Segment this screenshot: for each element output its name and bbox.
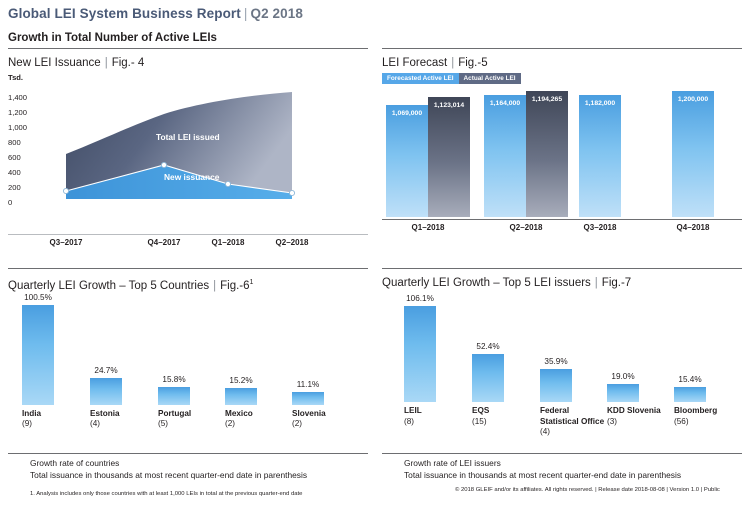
fig4-data-point xyxy=(225,181,230,186)
panel-divider xyxy=(8,268,368,269)
page-title: Global LEI System Business Report|Q2 201… xyxy=(8,6,742,22)
fig4-plot-area: Total LEI issued New issuance xyxy=(42,86,364,196)
fig4-ytick: 800 xyxy=(8,139,21,147)
fig5-bar-forecast: 1,182,000 xyxy=(579,95,621,217)
fig5-legend: Forecasted Active LEI Actual Active LEI xyxy=(382,73,521,84)
fig5-xtick: Q4–2018 xyxy=(655,223,731,233)
fig6-title: Quarterly LEI Growth – Top 5 Countries|F… xyxy=(8,276,368,293)
fig4-data-point xyxy=(289,190,294,195)
fig5-bar-value: 1,069,000 xyxy=(386,110,428,117)
fig6-footnote: 1. Analysis includes only those countrie… xyxy=(30,490,302,498)
report-header: Global LEI System Business Report|Q2 201… xyxy=(8,6,742,45)
fig6-category-name: Estonia xyxy=(90,409,120,420)
fig5-bar-value: 1,182,000 xyxy=(579,100,621,107)
fig6-chart: 100.5% 24.7% 15.8% 15.2% 11.1% India (9)… xyxy=(8,301,368,451)
legend-item-actual: Actual Active LEI xyxy=(459,73,521,84)
fig4-x-axis-line xyxy=(8,234,368,235)
fig6-figure-label: Fig.-6 xyxy=(220,280,249,292)
fig7-bar xyxy=(472,354,504,402)
fig4-label-total: Total LEI issued xyxy=(156,132,220,142)
fig6-footer-line1: Growth rate of countries xyxy=(30,458,119,470)
fig7-bar-value: 106.1% xyxy=(396,294,444,304)
fig7-bar-value: 15.4% xyxy=(666,375,714,385)
fig6-bar-value: 15.8% xyxy=(150,375,198,385)
fig7-bar xyxy=(674,387,706,402)
fig7-chart: 106.1% 52.4% 35.9% 19.0% 15.4% LEIL (8) … xyxy=(382,298,742,448)
fig4-title-text: New LEI Issuance xyxy=(8,57,101,69)
fig5-figure-label: Fig.-5 xyxy=(458,57,487,69)
fig4-y-axis: 1,400 1,200 1,000 800 600 400 200 0 xyxy=(8,74,42,204)
fig6-bar xyxy=(90,378,122,405)
panel-divider xyxy=(8,48,368,49)
fig4-data-point xyxy=(161,162,166,167)
fig7-footer-line2: Total issuance in thousands at most rece… xyxy=(404,470,681,482)
panel-top5-issuers: Quarterly LEI Growth – Top 5 LEI issuers… xyxy=(382,268,742,448)
fig5-bar-value: 1,123,014 xyxy=(428,102,470,109)
fig6-category-label: Portugal (5) xyxy=(158,409,191,430)
fig7-category-label: KDD Slovenia (3) xyxy=(607,406,677,427)
fig6-category-name: Portugal xyxy=(158,409,191,420)
fig6-category-count: (4) xyxy=(90,419,120,430)
fig7-category-name: Bloomberg xyxy=(674,406,740,417)
report-page: Global LEI System Business Report|Q2 201… xyxy=(0,0,750,505)
fig4-xtick: Q2–2018 xyxy=(254,238,330,248)
fig5-bar-value: 1,194,265 xyxy=(526,96,568,103)
fig5-xtick: Q3–2018 xyxy=(562,223,638,233)
fig4-title: New LEI Issuance|Fig.- 4 xyxy=(8,56,368,70)
fig6-bar-value: 24.7% xyxy=(82,366,130,376)
fig5-bars: 1,069,000 1,123,014 1,164,000 1,194,265 … xyxy=(382,91,742,217)
fig7-bar-value: 52.4% xyxy=(464,342,512,352)
fig7-bar-value: 19.0% xyxy=(599,372,647,382)
fig4-chart: Tsd. 1,400 1,200 1,000 800 600 400 200 0 xyxy=(8,74,368,224)
fig6-bar xyxy=(22,305,54,405)
fig6-category-count: (9) xyxy=(22,419,41,430)
fig6-category-label: Mexico (2) xyxy=(225,409,253,430)
fig6-category-name: India xyxy=(22,409,41,420)
fig5-title-separator: | xyxy=(447,57,458,69)
fig6-footer-line2: Total issuance in thousands at most rece… xyxy=(30,470,307,482)
fig5-bar-actual: 1,194,265 xyxy=(526,91,568,217)
fig6-bar xyxy=(158,387,190,405)
fig4-x-axis: Q3–2017 Q4–2017 Q1–2018 Q2–2018 xyxy=(42,238,364,252)
fig5-xtick: Q1–2018 xyxy=(390,223,466,233)
fig6-category-count: (2) xyxy=(225,419,253,430)
fig4-xtick: Q3–2017 xyxy=(28,238,104,248)
fig7-category-count: (3) xyxy=(607,417,677,428)
fig4-figure-label: Fig.- 4 xyxy=(112,57,145,69)
fig7-title-text: Quarterly LEI Growth – Top 5 LEI issuers xyxy=(382,277,591,289)
legend-item-forecasted: Forecasted Active LEI xyxy=(382,73,459,84)
fig4-ytick: 1,200 xyxy=(8,109,27,117)
fig7-bar xyxy=(540,369,572,402)
fig6-figure-superscript: 1 xyxy=(250,279,254,286)
panel-top5-countries: Quarterly LEI Growth – Top 5 Countries|F… xyxy=(8,268,368,451)
fig4-ytick: 1,400 xyxy=(8,94,27,102)
fig7-footer-line1: Growth rate of LEI issuers xyxy=(404,458,501,470)
fig6-bar xyxy=(292,392,324,405)
fig7-bar-value: 35.9% xyxy=(532,357,580,367)
fig6-title-separator: | xyxy=(209,280,220,292)
fig5-chart: Forecasted Active LEI Actual Active LEI … xyxy=(382,73,742,243)
fig7-bar xyxy=(607,384,639,402)
fig5-bar-forecast: 1,069,000 xyxy=(386,105,428,217)
fig5-bar-value: 1,164,000 xyxy=(484,100,526,107)
fig4-title-separator: | xyxy=(101,57,112,69)
fig5-bar-forecast: 1,200,000 xyxy=(672,91,714,217)
fig7-category-label: Bloomberg (56) xyxy=(674,406,740,427)
fig7-category-label: Federal Statistical Office (4) xyxy=(540,406,606,438)
fig4-ytick: 0 xyxy=(8,199,12,207)
fig6-category-label: Estonia (4) xyxy=(90,409,120,430)
panel-divider xyxy=(382,48,742,49)
fig6-category-label: India (9) xyxy=(22,409,41,430)
panel-new-lei-issuance: New LEI Issuance|Fig.- 4 Tsd. 1,400 1,20… xyxy=(8,48,368,224)
fig7-category-label: LEIL (8) xyxy=(404,406,466,427)
fig4-ytick: 600 xyxy=(8,154,21,162)
fig5-bar-forecast: 1,164,000 xyxy=(484,95,526,217)
panel-lei-forecast: LEI Forecast|Fig.-5 Forecasted Active LE… xyxy=(382,48,742,243)
report-quarter: Q2 2018 xyxy=(250,6,303,21)
fig7-title: Quarterly LEI Growth – Top 5 LEI issuers… xyxy=(382,276,742,290)
copyright-notice: © 2018 GLEIF and/or its affiliates. All … xyxy=(455,486,720,494)
fig6-bar-value: 100.5% xyxy=(14,293,62,303)
fig5-bar-actual: 1,123,014 xyxy=(428,97,470,217)
fig6-bar-value: 15.2% xyxy=(217,376,265,386)
report-subtitle: Growth in Total Number of Active LEIs xyxy=(8,31,742,45)
fig6-footer-divider xyxy=(8,453,368,454)
fig5-x-axis-line xyxy=(382,219,742,220)
fig7-title-separator: | xyxy=(591,277,602,289)
fig4-label-new: New issuance xyxy=(164,172,219,182)
fig6-category-name: Slovenia xyxy=(292,409,326,420)
fig7-footer-divider xyxy=(382,453,742,454)
fig4-data-point xyxy=(63,188,68,193)
report-title-main: Global LEI System Business Report xyxy=(8,6,241,21)
fig5-title-text: LEI Forecast xyxy=(382,57,447,69)
fig4-ytick: 200 xyxy=(8,184,21,192)
fig5-bar-value: 1,200,000 xyxy=(672,96,714,103)
fig5-title: LEI Forecast|Fig.-5 xyxy=(382,56,742,70)
fig7-category-count: (4) xyxy=(540,427,606,438)
fig7-category-name: EQS xyxy=(472,406,534,417)
fig7-category-count: (15) xyxy=(472,417,534,428)
fig4-area-svg xyxy=(42,86,364,204)
fig7-figure-label: Fig.-7 xyxy=(602,277,631,289)
fig7-category-label: EQS (15) xyxy=(472,406,534,427)
fig4-ytick: 400 xyxy=(8,169,21,177)
fig6-bar-value: 11.1% xyxy=(284,380,332,390)
fig7-category-count: (8) xyxy=(404,417,466,428)
fig7-category-name: KDD Slovenia xyxy=(607,406,677,417)
fig6-title-text: Quarterly LEI Growth – Top 5 Countries xyxy=(8,280,209,292)
fig7-bar xyxy=(404,306,436,402)
fig7-category-name: LEIL xyxy=(404,406,466,417)
fig6-bar xyxy=(225,388,257,405)
fig4-ytick: 1,000 xyxy=(8,124,27,132)
fig5-xtick: Q2–2018 xyxy=(488,223,564,233)
fig6-category-label: Slovenia (2) xyxy=(292,409,326,430)
fig6-category-count: (5) xyxy=(158,419,191,430)
fig6-category-count: (2) xyxy=(292,419,326,430)
panel-divider xyxy=(382,268,742,269)
fig6-category-name: Mexico xyxy=(225,409,253,420)
fig7-category-name: Federal Statistical Office xyxy=(540,406,606,427)
fig7-category-count: (56) xyxy=(674,417,740,428)
